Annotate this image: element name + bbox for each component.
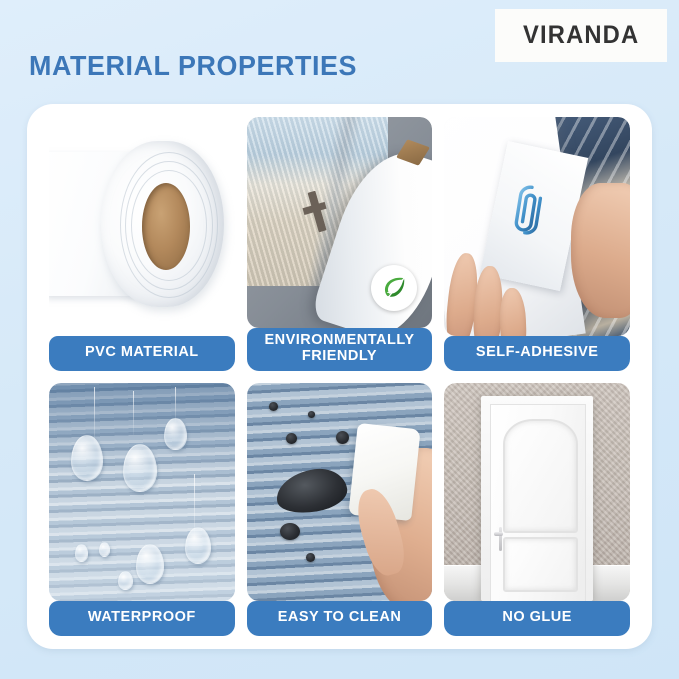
feature-card: PVC MATERIAL	[27, 104, 652, 649]
feature-label-environmentally-friendly: ENVIRONMENTALLY FRIENDLY	[247, 328, 433, 370]
right-hand-shape	[571, 183, 630, 319]
droplet-trail	[133, 391, 134, 435]
feature-label-no-glue: NO GLUE	[444, 601, 630, 636]
self-adhesive-image	[444, 117, 630, 336]
handle-plate	[499, 527, 502, 551]
feature-label-pvc-material: PVC MATERIAL	[49, 336, 235, 371]
door-panel-top	[503, 419, 578, 534]
stain-smear	[274, 465, 350, 517]
feature-label-line-1: ENVIRONMENTALLY	[251, 333, 429, 349]
brand-logo: VIRANDA	[495, 9, 667, 62]
feature-label-easy-to-clean: EASY TO CLEAN	[247, 601, 433, 636]
feature-tile-self-adhesive: SELF-ADHESIVE	[444, 117, 630, 371]
water-droplet	[123, 444, 157, 492]
feature-label-line-2: FRIENDLY	[251, 349, 429, 365]
waterproof-image	[49, 383, 235, 602]
water-droplet	[185, 527, 211, 564]
page-header: MATERIAL PROPERTIES VIRANDA	[0, 0, 679, 104]
handle-lever	[494, 532, 503, 536]
stain-spot	[269, 402, 278, 411]
droplet-trail	[94, 387, 95, 444]
feature-tile-environmentally-friendly: ENVIRONMENTALLY FRIENDLY	[247, 117, 433, 371]
door-slab	[490, 404, 586, 602]
eco-wallpaper-image	[247, 117, 433, 328]
feature-tile-no-glue: NO GLUE	[444, 383, 630, 637]
feature-label-self-adhesive: SELF-ADHESIVE	[444, 336, 630, 371]
feature-tile-easy-to-clean: EASY TO CLEAN	[247, 383, 433, 637]
pvc-roll-image	[49, 117, 235, 336]
feature-tile-waterproof: WATERPROOF	[49, 383, 235, 637]
easy-to-clean-image	[247, 383, 433, 602]
stain-spot	[306, 553, 315, 562]
stain-spot	[280, 523, 300, 541]
water-droplet	[164, 418, 186, 451]
door-handle	[494, 527, 506, 551]
stain-spot	[336, 431, 349, 444]
feature-tile-pvc-material: PVC MATERIAL	[49, 117, 235, 371]
brand-name: VIRANDA	[523, 21, 639, 50]
water-droplet	[136, 544, 164, 583]
droplet-trail	[175, 387, 176, 422]
no-glue-image	[444, 383, 630, 602]
pvc-roll-core	[142, 183, 190, 271]
stain-spot	[308, 411, 315, 418]
page-title: MATERIAL PROPERTIES	[29, 50, 357, 82]
feature-label-waterproof: WATERPROOF	[49, 601, 235, 636]
stain-spot	[286, 433, 297, 444]
door-frame	[481, 396, 592, 602]
water-droplet	[118, 571, 133, 591]
door-panel-bottom	[503, 537, 578, 592]
feature-grid: PVC MATERIAL	[49, 117, 630, 636]
water-droplet	[75, 544, 88, 561]
water-droplet	[71, 435, 103, 481]
